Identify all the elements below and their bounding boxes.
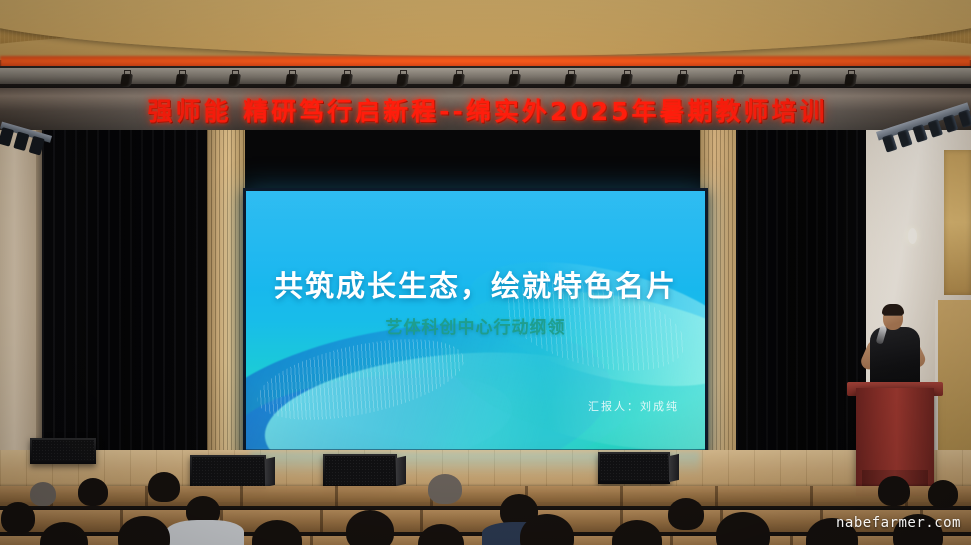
audience-person bbox=[166, 520, 244, 545]
stage-equipment-case bbox=[30, 438, 96, 464]
slide-subtitle: 艺体科创中心行动纲领 bbox=[246, 313, 705, 338]
stage-curtain-left bbox=[42, 130, 210, 452]
audience-person bbox=[78, 478, 108, 506]
audience-person bbox=[668, 498, 704, 530]
audience-person bbox=[346, 510, 394, 545]
right-wall-wood-panel bbox=[944, 150, 971, 295]
watermark: nabefarmer.com bbox=[836, 515, 961, 531]
audience-area bbox=[0, 468, 971, 545]
audience-person bbox=[1, 502, 35, 534]
eyeglasses-icon bbox=[884, 315, 902, 320]
audience-person bbox=[928, 480, 958, 508]
led-screen-surface: 共筑成长生态，绘就特色名片 艺体科创中心行动纲领 汇报人：刘成纯 bbox=[246, 191, 705, 456]
seat-row bbox=[0, 486, 971, 506]
ceiling-curve bbox=[0, 26, 971, 60]
auditorium-photo: 强师能 精研笃行启新程--绵实外2025年暑期教师培训 bbox=[0, 0, 971, 545]
left-wall-panel bbox=[0, 130, 36, 460]
presenter-hair bbox=[882, 304, 904, 315]
audience-person bbox=[428, 474, 462, 504]
audience-person bbox=[30, 482, 56, 506]
presenter-person bbox=[862, 306, 932, 392]
event-banner: 强师能 精研笃行启新程--绵实外2025年暑期教师培训 bbox=[0, 88, 971, 132]
ceiling-wood-panel bbox=[0, 0, 971, 60]
audience-person bbox=[148, 472, 180, 502]
right-wall-door bbox=[935, 300, 971, 450]
stage-pillar-left bbox=[207, 130, 245, 450]
wall-spotlight bbox=[908, 228, 917, 244]
event-banner-text: 强师能 精研笃行启新程--绵实外2025年暑期教师培训 bbox=[0, 92, 971, 128]
led-screen: 共筑成长生态，绘就特色名片 艺体科创中心行动纲领 汇报人：刘成纯 bbox=[243, 188, 708, 459]
slide-presenter-credit: 汇报人：刘成纯 bbox=[588, 398, 679, 414]
stage-curtain-right bbox=[736, 130, 866, 455]
truss-rail bbox=[0, 68, 971, 84]
audience-person bbox=[878, 476, 910, 506]
slide-title: 共筑成长生态，绘就特色名片 bbox=[246, 263, 705, 305]
